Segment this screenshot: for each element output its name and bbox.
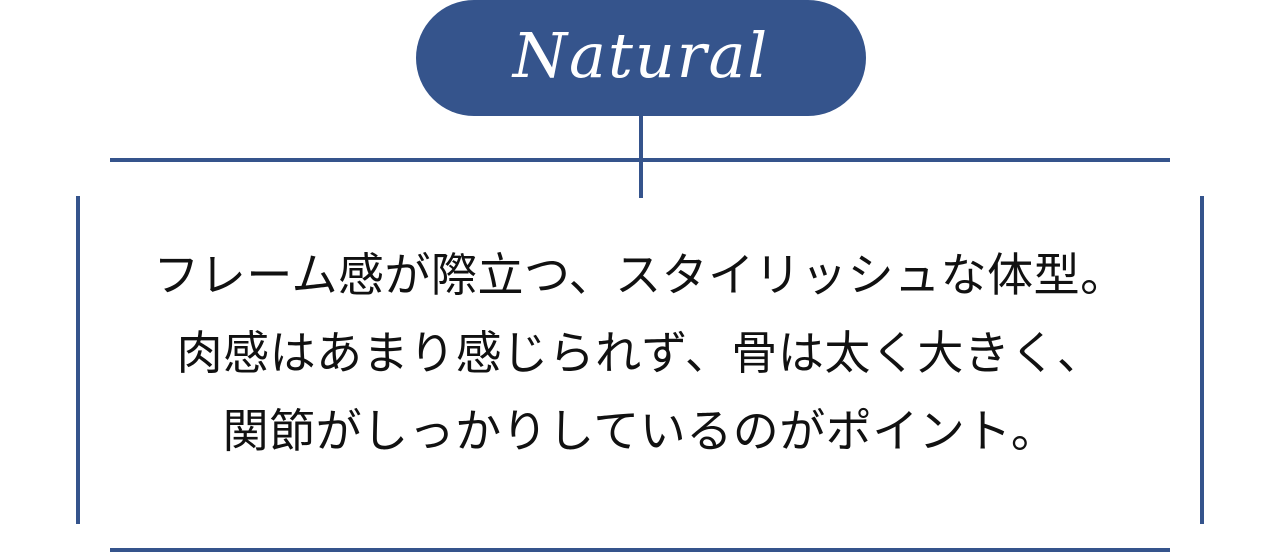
description-line: 関節がしっかりしているのがポイント。 bbox=[80, 392, 1200, 470]
title-badge: Natural bbox=[416, 0, 866, 116]
description-line: 肉感はあまり感じられず、骨は太く大きく、 bbox=[80, 314, 1200, 392]
natural-body-type-card: Natural フレーム感が際立つ、スタイリッシュな体型。 肉感はあまり感じられ… bbox=[0, 0, 1280, 556]
divider-bottom-horizontal bbox=[110, 548, 1170, 552]
connector-stem-line bbox=[639, 112, 643, 198]
divider-top-horizontal bbox=[110, 158, 1170, 162]
description-block: フレーム感が際立つ、スタイリッシュな体型。 肉感はあまり感じられず、骨は太く大き… bbox=[80, 236, 1200, 470]
bracket-right-vertical bbox=[1200, 196, 1204, 524]
description-line: フレーム感が際立つ、スタイリッシュな体型。 bbox=[80, 236, 1200, 314]
title-badge-label: Natural bbox=[513, 25, 770, 87]
